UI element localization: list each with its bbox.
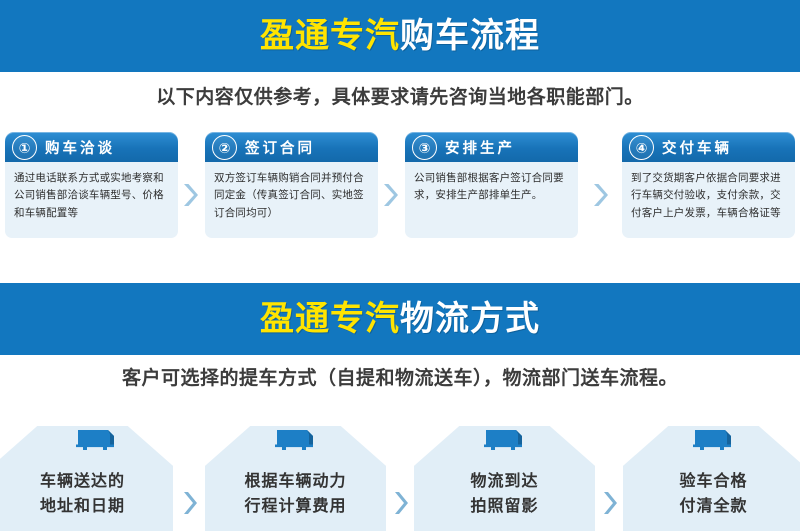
- logistics-line-2: 拍照留影: [414, 495, 595, 520]
- logistics-line-1: 根据车辆动力: [205, 470, 386, 495]
- logistics-line-2: 付清全款: [623, 495, 800, 520]
- step-number-badge-2: ②: [212, 135, 237, 160]
- truck-icon: [691, 426, 737, 452]
- step-card-2[interactable]: ② 签订合同 双方签订车辆购销合同并预付合同定金（传真签订合同、实地签订合同均可…: [205, 132, 378, 238]
- banner-title-purchase: 盈通专汽购车流程: [260, 19, 540, 53]
- step-header-3: ③ 安排生产: [405, 132, 578, 162]
- banner-brand-text: 盈通专汽: [260, 17, 400, 55]
- banner-title-logistics: 盈通专汽物流方式: [260, 302, 540, 336]
- purchase-steps-row: ① 购车洽谈 通过电话联系方式或实地考察和公司销售部洽谈车辆型号、价格和车辆配置…: [0, 132, 800, 252]
- step-title-1: 购车洽谈: [45, 132, 115, 162]
- step-body-4: 到了交货期客户依据合同要求进行车辆交付验收，支付余款，交付客户上户发票，车辆合格…: [622, 162, 795, 238]
- banner-brand-text: 盈通专汽: [260, 300, 400, 338]
- logistics-line-2: 行程计算费用: [205, 495, 386, 520]
- logistics-card-text-1: 车辆送达的 地址和日期: [0, 470, 173, 520]
- section-banner-logistics: 盈通专汽物流方式: [0, 283, 800, 355]
- logistics-steps-row: 车辆送达的 地址和日期 根据车辆动力 行程计算费用: [0, 400, 800, 531]
- section-banner-purchase: 盈通专汽购车流程: [0, 0, 800, 72]
- caption-logistics: 客户可选择的提车方式（自提和物流送车），物流部门送车流程。: [0, 363, 800, 390]
- logistics-line-2: 地址和日期: [0, 495, 173, 520]
- chevron-right-icon: [601, 490, 617, 516]
- banner-section-text: 购车流程: [400, 17, 540, 55]
- step-number-badge-3: ③: [412, 135, 437, 160]
- step-card-1[interactable]: ① 购车洽谈 通过电话联系方式或实地考察和公司销售部洽谈车辆型号、价格和车辆配置…: [5, 132, 178, 238]
- step-header-2: ② 签订合同: [205, 132, 378, 162]
- logistics-card-3[interactable]: 物流到达 拍照留影: [414, 426, 595, 531]
- chevron-right-icon: [392, 490, 408, 516]
- step-card-3[interactable]: ③ 安排生产 公司销售部根据客户签订合同要求，安排生产部排单生产。: [405, 132, 578, 238]
- step-body-2: 双方签订车辆购销合同并预付合同定金（传真签订合同、实地签订合同均可）: [205, 162, 378, 238]
- logistics-card-text-2: 根据车辆动力 行程计算费用: [205, 470, 386, 520]
- step-title-2: 签订合同: [245, 132, 315, 162]
- truck-icon: [482, 426, 528, 452]
- banner-section-text: 物流方式: [400, 300, 540, 338]
- truck-icon: [74, 426, 120, 452]
- logistics-line-1: 物流到达: [414, 470, 595, 495]
- step-title-4: 交付车辆: [662, 132, 732, 162]
- step-card-4[interactable]: ④ 交付车辆 到了交货期客户依据合同要求进行车辆交付验收，支付余款，交付客户上户…: [622, 132, 795, 238]
- step-header-4: ④ 交付车辆: [622, 132, 795, 162]
- step-title-3: 安排生产: [445, 132, 515, 162]
- logistics-card-2[interactable]: 根据车辆动力 行程计算费用: [205, 426, 386, 531]
- truck-icon: [273, 426, 319, 452]
- step-body-1: 通过电话联系方式或实地考察和公司销售部洽谈车辆型号、价格和车辆配置等: [5, 162, 178, 238]
- step-number-badge-1: ①: [12, 135, 37, 160]
- chevron-right-icon: [181, 490, 197, 516]
- logistics-card-4[interactable]: 验车合格 付清全款: [623, 426, 800, 531]
- step-body-3: 公司销售部根据客户签订合同要求，安排生产部排单生产。: [405, 162, 578, 238]
- chevron-right-icon: [591, 182, 608, 208]
- chevron-right-icon: [181, 182, 198, 208]
- chevron-right-icon: [381, 182, 398, 208]
- logistics-card-text-3: 物流到达 拍照留影: [414, 470, 595, 520]
- infographic-page: 盈通专汽购车流程 以下内容仅供参考，具体要求请先咨询当地各职能部门。 ① 购车洽…: [0, 0, 800, 531]
- logistics-card-text-4: 验车合格 付清全款: [623, 470, 800, 520]
- logistics-line-1: 车辆送达的: [0, 470, 173, 495]
- caption-purchase: 以下内容仅供参考，具体要求请先咨询当地各职能部门。: [0, 82, 800, 109]
- logistics-line-1: 验车合格: [623, 470, 800, 495]
- step-header-1: ① 购车洽谈: [5, 132, 178, 162]
- step-number-badge-4: ④: [629, 135, 654, 160]
- logistics-card-1[interactable]: 车辆送达的 地址和日期: [0, 426, 173, 531]
